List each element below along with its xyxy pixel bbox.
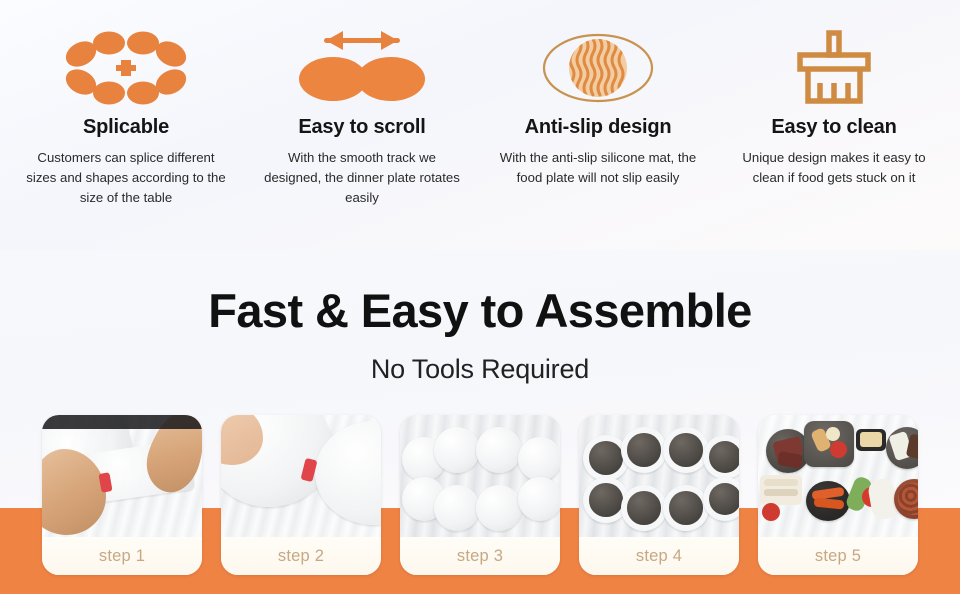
step-photo: [579, 415, 739, 537]
feature-description: With the anti-slip silicone mat, the foo…: [496, 148, 701, 188]
feature-description: Customers can splice different sizes and…: [24, 148, 229, 208]
feature-description: With the smooth track we designed, the d…: [260, 148, 465, 208]
broom-brush-icon: [788, 26, 880, 110]
feature-easy-to-clean: Easy to clean Unique design makes it eas…: [716, 0, 952, 250]
feature-anti-slip-design: Anti-slip design With the anti-slip sili…: [480, 0, 716, 250]
page-title: Fast & Easy to Assemble: [0, 283, 960, 338]
step-label: step 2: [221, 537, 381, 575]
step-photo: [42, 415, 202, 537]
feature-title: Anti-slip design: [525, 116, 672, 139]
step-label: step 3: [400, 537, 560, 575]
step-photo: [758, 415, 918, 537]
step-label: step 4: [579, 537, 739, 575]
anti-slip-textured-mat-icon: [540, 26, 656, 110]
step-card[interactable]: step 1: [42, 415, 202, 575]
feature-title: Splicable: [83, 116, 169, 139]
feature-title: Easy to clean: [771, 116, 896, 139]
features-row: Splicable Customers can splice different…: [0, 0, 960, 250]
step-card[interactable]: step 3: [400, 415, 560, 575]
feature-description: Unique design makes it easy to clean if …: [732, 148, 937, 188]
step-card[interactable]: step 2: [221, 415, 381, 575]
step-label: step 1: [42, 537, 202, 575]
product-infographic: Splicable Customers can splice different…: [0, 0, 960, 594]
scroll-arrow-plates-icon: [296, 26, 428, 110]
feature-easy-to-scroll: Easy to scroll With the smooth track we …: [244, 0, 480, 250]
features-band: Splicable Customers can splice different…: [0, 0, 960, 250]
page-subtitle: No Tools Required: [0, 354, 960, 385]
step-card[interactable]: step 5: [758, 415, 918, 575]
steps-row: step 1 step 2: [42, 415, 918, 575]
step-label: step 5: [758, 537, 918, 575]
feature-title: Easy to scroll: [298, 116, 425, 139]
step-card[interactable]: step 4: [579, 415, 739, 575]
step-photo: [400, 415, 560, 537]
splicable-ring-icon: [64, 26, 188, 110]
feature-splicable: Splicable Customers can splice different…: [8, 0, 244, 250]
step-photo: [221, 415, 381, 537]
